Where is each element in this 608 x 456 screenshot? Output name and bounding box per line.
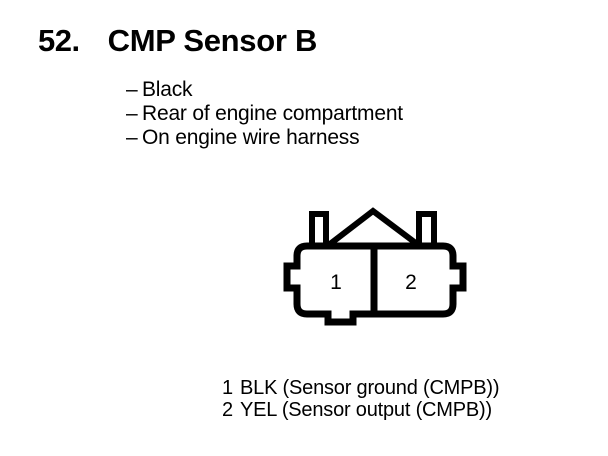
dash-icon: –	[126, 102, 142, 126]
item-number: 52.	[38, 23, 80, 59]
connector-diagram: 1 2	[270, 200, 480, 330]
legend-row: 1 BLK (Sensor ground (CMPB))	[222, 377, 499, 399]
pin-number-2: 2	[405, 271, 417, 294]
legend-pin-description: BLK (Sensor ground (CMPB))	[240, 377, 499, 399]
legend-row: 2 YEL (Sensor output (CMPB))	[222, 399, 499, 421]
item-title: CMP Sensor B	[108, 23, 317, 59]
dash-icon: –	[126, 78, 142, 102]
left-tab-icon	[312, 214, 326, 244]
pin-legend: 1 BLK (Sensor ground (CMPB)) 2 YEL (Sens…	[222, 377, 499, 421]
list-item-label: Black	[142, 78, 192, 102]
right-tab-icon	[419, 214, 434, 244]
description-list: – Black – Rear of engine compartment – O…	[126, 78, 403, 150]
connector-reference-page: 52. CMP Sensor B – Black – Rear of engin…	[0, 0, 608, 456]
legend-pin-description: YEL (Sensor output (CMPB))	[240, 399, 492, 421]
page-title: 52. CMP Sensor B	[38, 23, 317, 59]
connector-drawing: 1 2	[270, 200, 480, 330]
dash-icon: –	[126, 126, 142, 150]
legend-pin-number: 2	[222, 399, 240, 421]
list-item: – Black	[126, 78, 403, 102]
list-item: – Rear of engine compartment	[126, 102, 403, 126]
list-item-label: On engine wire harness	[142, 126, 359, 150]
latch-peak-icon	[330, 211, 417, 244]
pin-number-1: 1	[330, 271, 342, 294]
legend-pin-number: 1	[222, 377, 240, 399]
list-item-label: Rear of engine compartment	[142, 102, 403, 126]
list-item: – On engine wire harness	[126, 126, 403, 150]
